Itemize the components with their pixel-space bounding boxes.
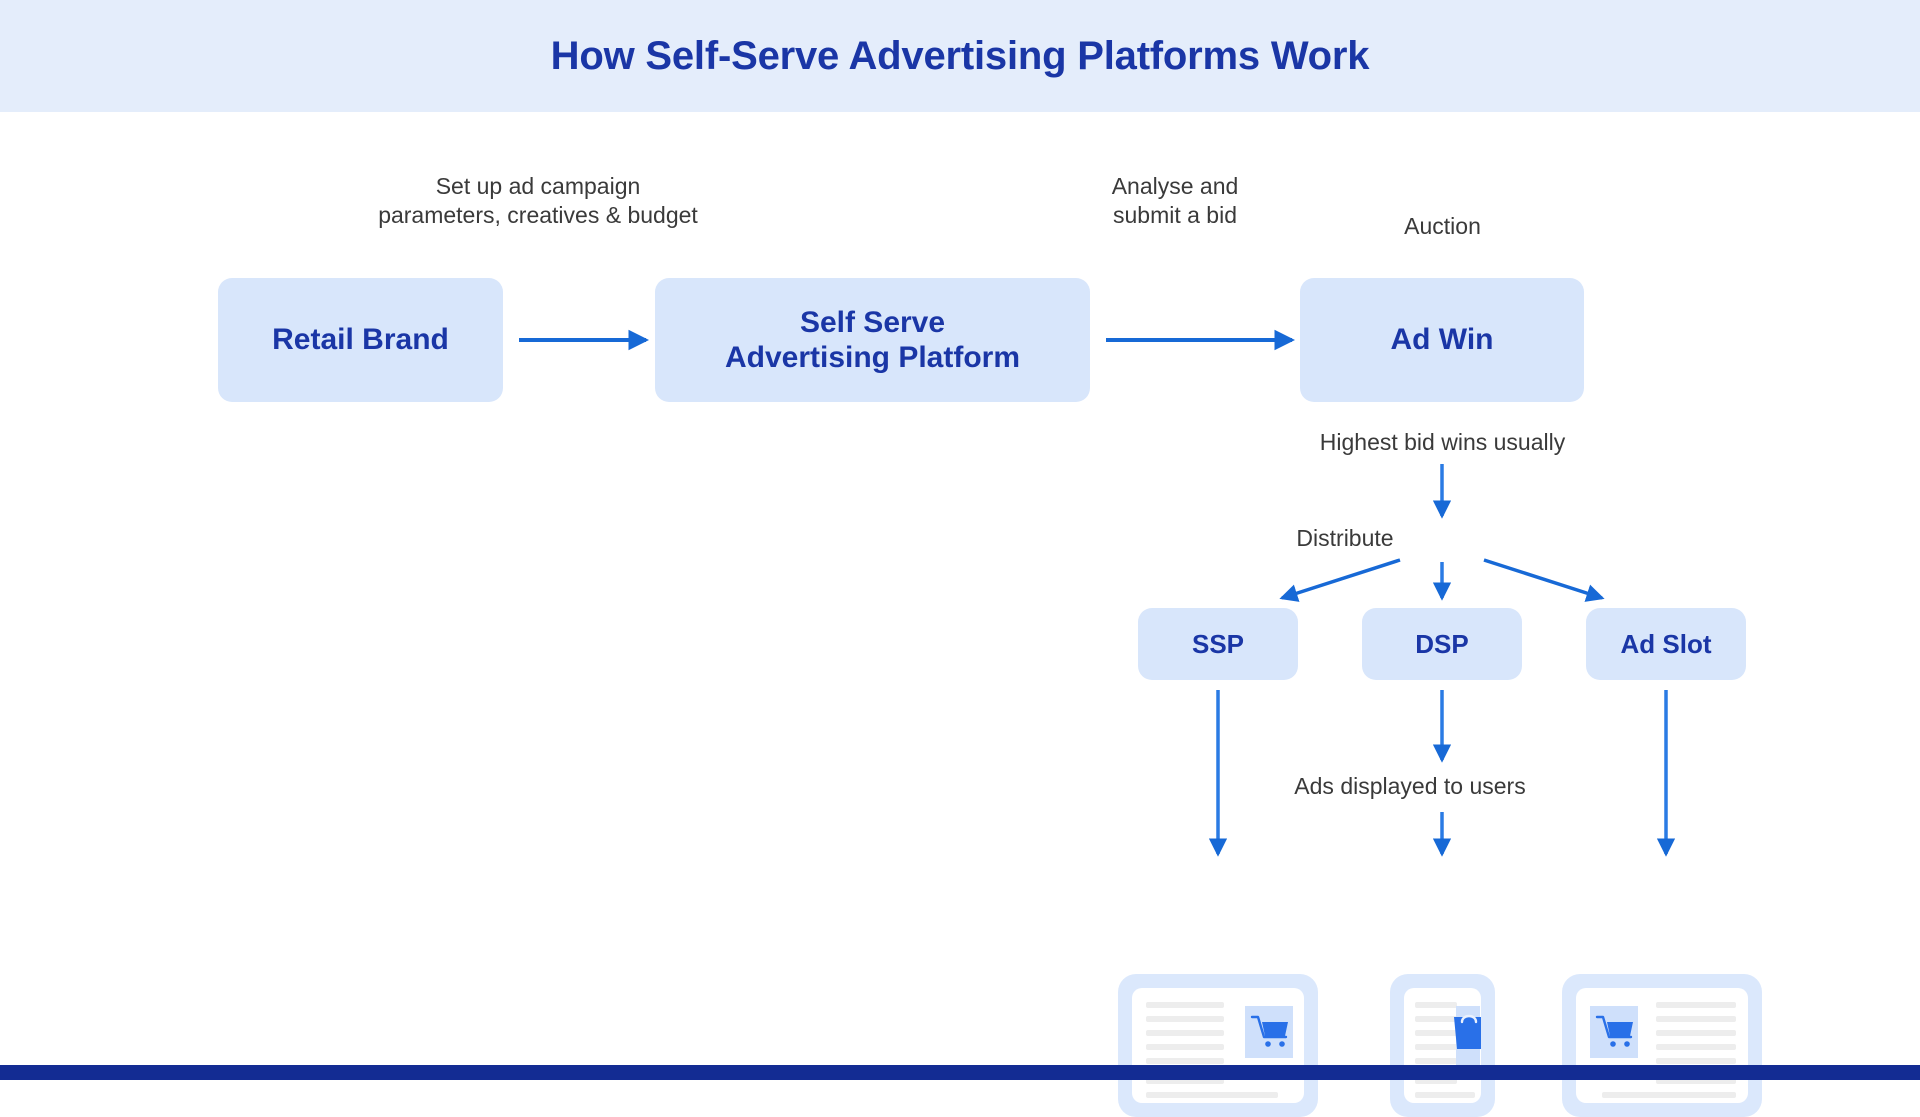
- arrow-distribute-to-adslot: [1484, 560, 1602, 598]
- ad-card-horizontal-left: [1118, 974, 1318, 1117]
- node-ad-win[interactable]: Ad Win: [1300, 278, 1584, 402]
- placeholder-line: [1656, 1030, 1736, 1036]
- placeholder-line: [1146, 1044, 1224, 1050]
- placeholder-line: [1415, 1058, 1457, 1064]
- page-header: How Self-Serve Advertising Platforms Wor…: [0, 0, 1920, 112]
- node-ad-slot-label: Ad Slot: [1621, 629, 1712, 660]
- placeholder-line: [1146, 1002, 1224, 1008]
- placeholder-line: [1602, 1092, 1736, 1098]
- shopping-cart-icon: [1594, 1012, 1636, 1052]
- ad-card-horizontal-right: [1562, 974, 1762, 1117]
- page-title: How Self-Serve Advertising Platforms Wor…: [551, 34, 1370, 79]
- ad-card-content: [1404, 988, 1481, 1103]
- node-ssp-label: SSP: [1192, 629, 1244, 660]
- caption-setup-campaign: Set up ad campaign parameters, creatives…: [308, 172, 768, 231]
- footer-accent-bar: [0, 1065, 1920, 1080]
- ad-card-vertical-middle: [1390, 974, 1495, 1117]
- node-retail-brand[interactable]: Retail Brand: [218, 278, 503, 402]
- placeholder-line: [1146, 1092, 1278, 1098]
- arrow-layer: [0, 112, 1920, 1065]
- node-dsp-label: DSP: [1415, 629, 1468, 660]
- caption-highest-bid: Highest bid wins usually: [1160, 428, 1725, 457]
- placeholder-line: [1146, 1058, 1224, 1064]
- placeholder-line: [1656, 1058, 1736, 1064]
- caption-distribute: Distribute: [1230, 524, 1460, 553]
- placeholder-line: [1656, 1002, 1736, 1008]
- ad-card-content: [1576, 988, 1748, 1103]
- node-retail-brand-label: Retail Brand: [272, 322, 449, 357]
- placeholder-line: [1656, 1044, 1736, 1050]
- placeholder-line: [1415, 1092, 1475, 1098]
- node-ssp[interactable]: SSP: [1138, 608, 1298, 680]
- node-ad-win-label: Ad Win: [1390, 322, 1493, 357]
- placeholder-line: [1656, 1016, 1736, 1022]
- placeholder-line: [1146, 1030, 1224, 1036]
- node-dsp[interactable]: DSP: [1362, 608, 1522, 680]
- caption-analyse-bid: Analyse and submit a bid: [1055, 172, 1295, 231]
- caption-ads-displayed: Ads displayed to users: [1200, 772, 1620, 801]
- ad-card-content: [1132, 988, 1304, 1103]
- shopping-bag-icon: [1448, 1005, 1481, 1055]
- caption-auction: Auction: [1320, 212, 1565, 241]
- placeholder-line: [1146, 1016, 1224, 1022]
- node-ad-slot[interactable]: Ad Slot: [1586, 608, 1746, 680]
- diagram-canvas: Set up ad campaign parameters, creatives…: [0, 112, 1920, 1065]
- arrow-distribute-to-ssp: [1282, 560, 1400, 598]
- shopping-cart-icon: [1249, 1012, 1291, 1052]
- node-platform-label: Self Serve Advertising Platform: [725, 305, 1020, 376]
- node-self-serve-advertising-platform[interactable]: Self Serve Advertising Platform: [655, 278, 1090, 402]
